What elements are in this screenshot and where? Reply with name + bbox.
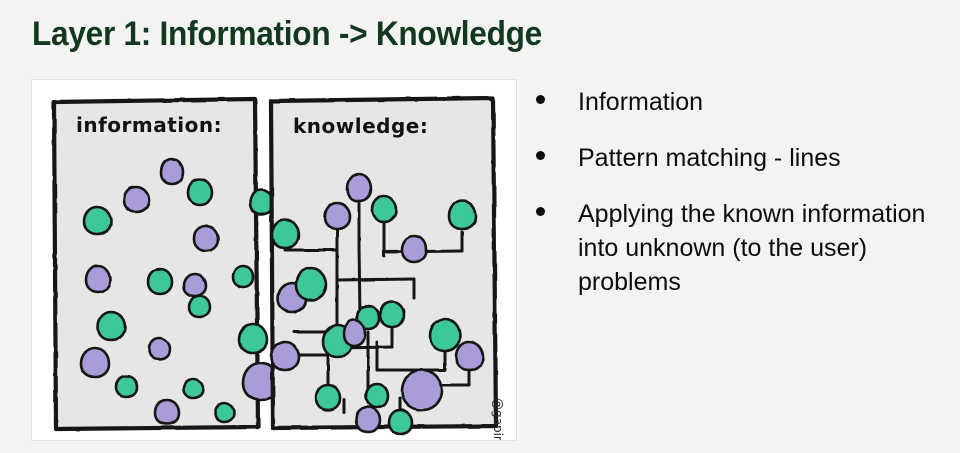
dot-purple: [124, 187, 149, 212]
dot-green: [380, 302, 404, 327]
artist-credit: @gapingvoid: [491, 398, 505, 440]
dot-green: [148, 269, 172, 294]
dot-green: [215, 403, 234, 422]
dot-purple: [325, 203, 350, 229]
dot-green: [449, 201, 476, 229]
dot-green: [296, 268, 326, 300]
list-item: Information: [536, 85, 946, 119]
dot-green: [239, 324, 267, 353]
dot-purple: [161, 159, 183, 184]
dot-purple: [149, 338, 170, 359]
dot-purple: [155, 400, 179, 424]
panel-knowledge-border: [271, 98, 496, 428]
panel-information: [54, 99, 258, 429]
bullet-dot-icon: [536, 95, 545, 104]
bullet-dot-icon: [536, 207, 545, 216]
bullet-text: Applying the known information into unkn…: [578, 197, 946, 299]
dot-green: [84, 207, 111, 234]
dot-purple: [402, 236, 426, 262]
dot-green: [430, 319, 460, 351]
dot-green: [366, 384, 388, 407]
dot-purple: [402, 370, 442, 410]
dot-green: [372, 196, 396, 222]
panel-knowledge-label: knowledge:: [293, 114, 428, 138]
dot-green: [189, 296, 210, 317]
dot-purple: [194, 226, 218, 251]
dot-purple: [344, 320, 365, 346]
dot-purple: [271, 342, 299, 370]
dot-green: [116, 376, 137, 397]
dot-purple: [184, 274, 206, 296]
slide-canvas: Layer 1: Information -> Knowledge inform…: [0, 0, 960, 453]
panel-knowledge: [271, 98, 496, 428]
dot-purple: [81, 348, 109, 377]
dot-green: [233, 266, 253, 287]
list-item: Pattern matching - lines: [536, 141, 946, 175]
illustration-card: information:: [32, 80, 516, 440]
bullet-list: Information Pattern matching - lines App…: [536, 85, 946, 321]
page-title: Layer 1: Information -> Knowledge: [32, 9, 683, 59]
bullet-dot-icon: [536, 151, 545, 160]
panel-information-border: [54, 99, 258, 429]
list-item: Applying the known information into unkn…: [536, 197, 946, 299]
dot-purple: [86, 266, 110, 292]
dot-purple: [356, 407, 380, 432]
bullet-text: Information: [578, 85, 946, 119]
dot-green: [98, 312, 125, 340]
panel-information-label: information:: [76, 113, 222, 137]
illustration-svg: information:: [32, 80, 516, 440]
dot-purple: [347, 174, 371, 201]
dot-green: [272, 220, 299, 248]
dot-green: [188, 179, 212, 205]
dot-green: [184, 379, 203, 398]
bullet-text: Pattern matching - lines: [578, 141, 946, 175]
dot-purple: [456, 342, 483, 370]
dot-green: [316, 385, 340, 410]
dot-green: [389, 410, 412, 434]
